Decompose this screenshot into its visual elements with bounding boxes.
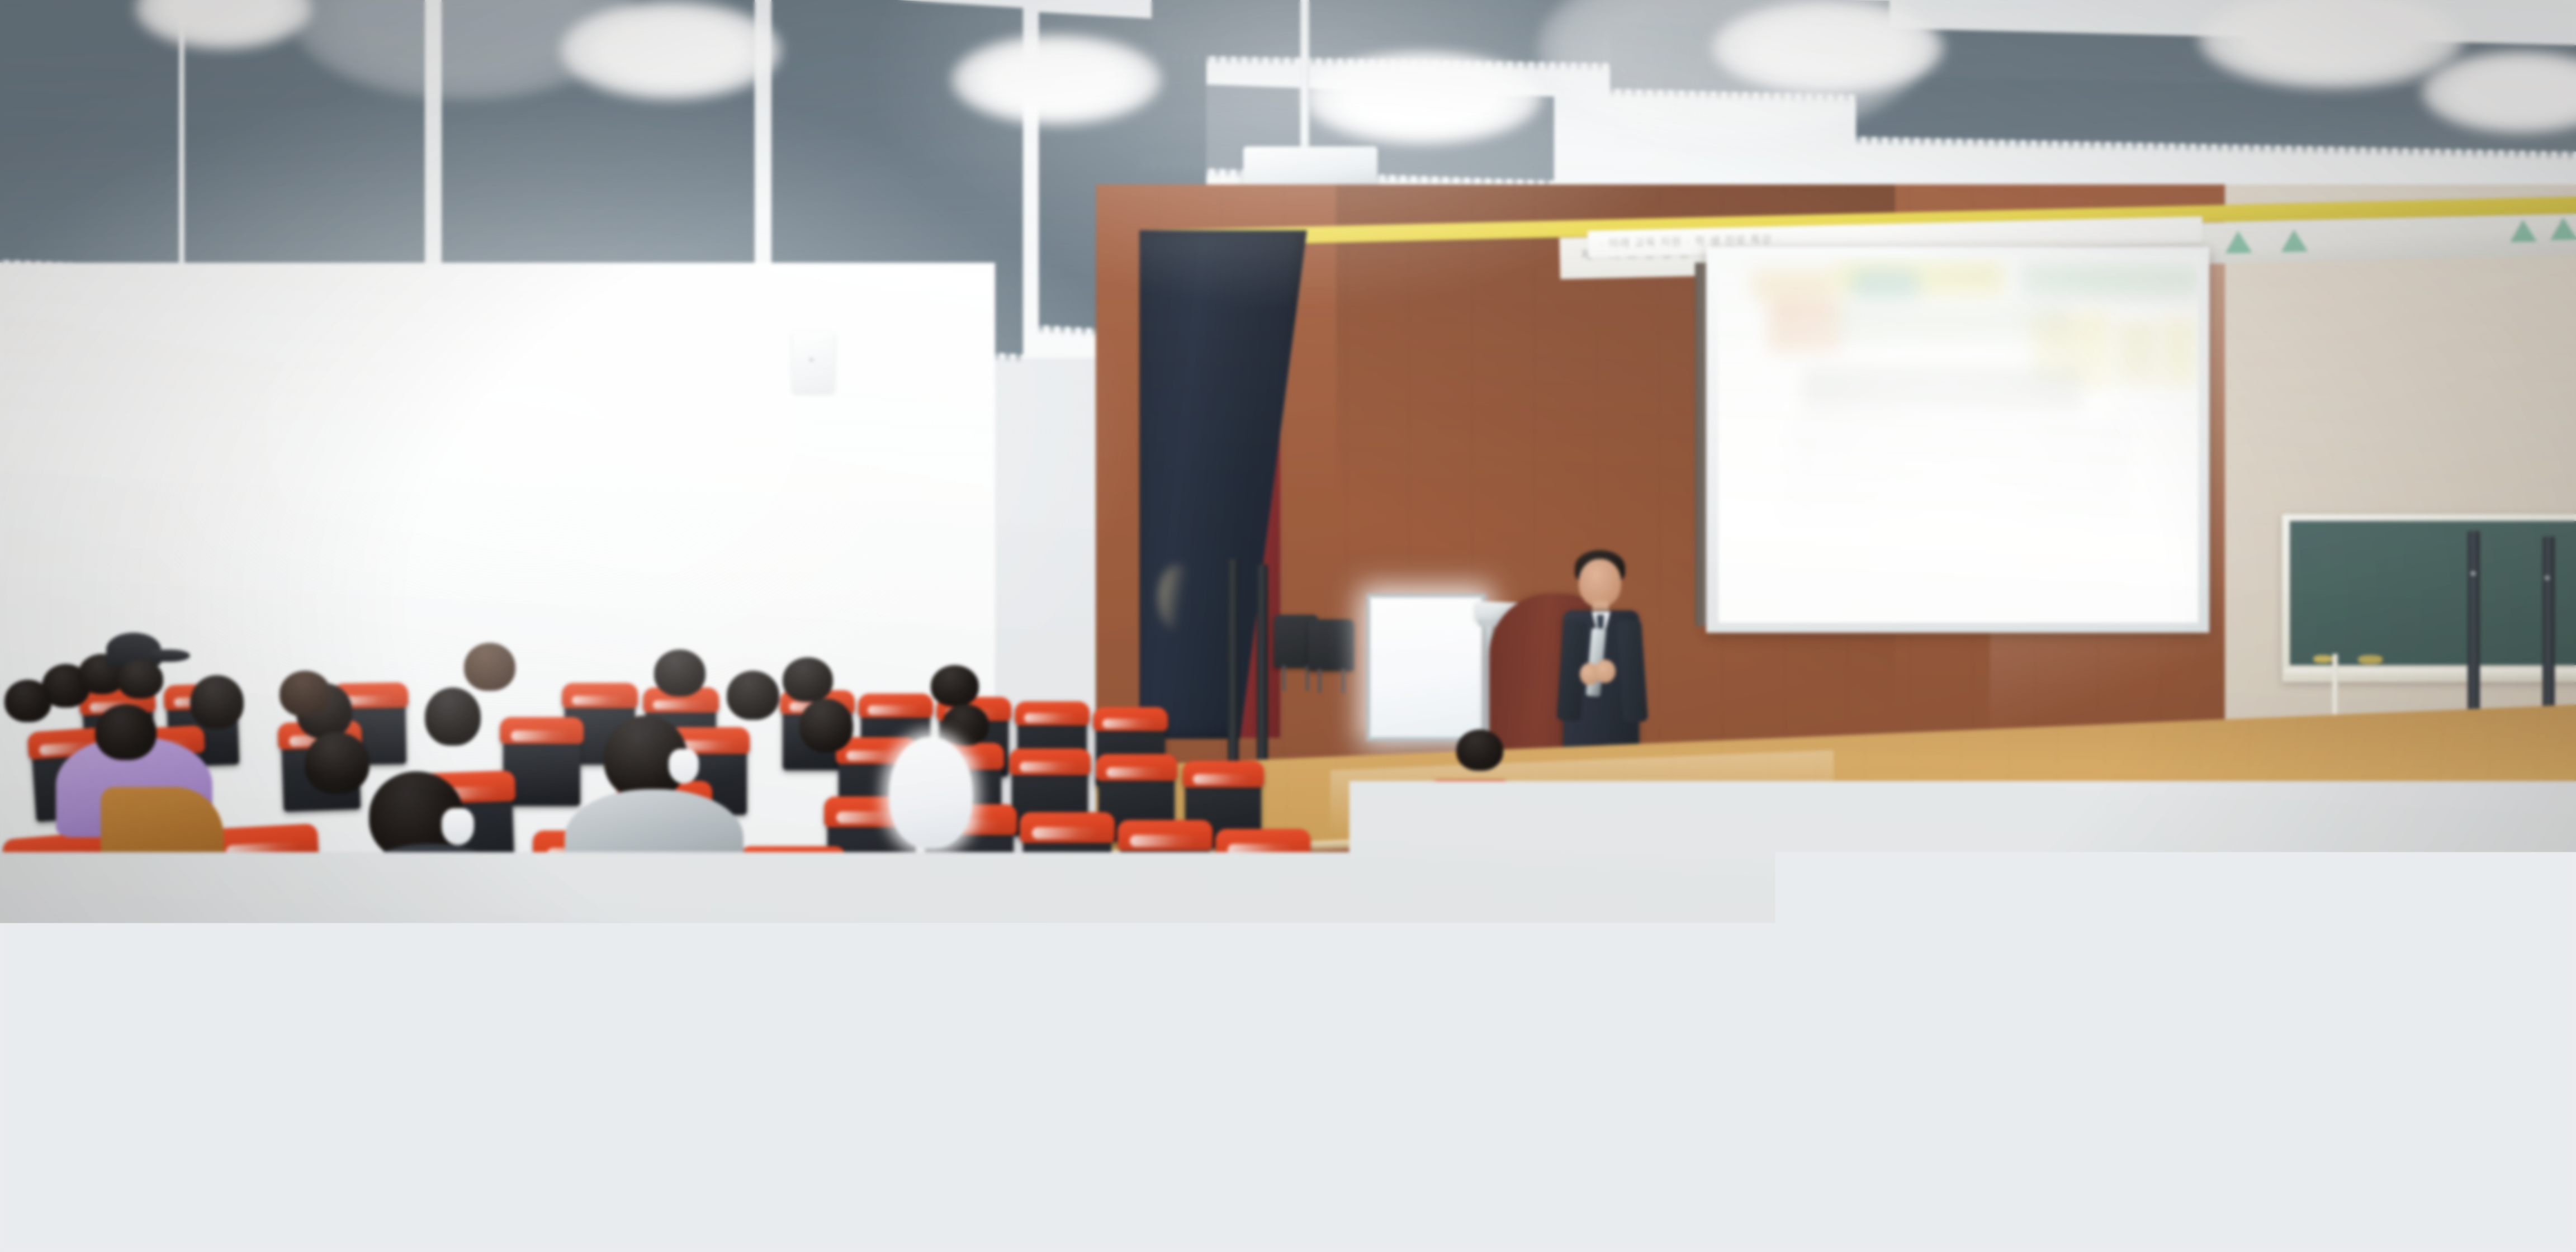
audience-head [654, 649, 705, 696]
audience-face [140, 1091, 212, 1158]
audience-shoulders [0, 959, 123, 1093]
speaker-indicator-icon [2470, 571, 2476, 576]
audience-head [1487, 833, 1549, 889]
presenter-hand-right [1594, 660, 1616, 683]
audience-head [95, 704, 157, 760]
audience-head [464, 643, 515, 691]
chalk-icon [2313, 655, 2332, 663]
auditorium-seat[interactable] [1973, 961, 2072, 1063]
audience-shoulders [347, 844, 514, 945]
banner-accent-triangle [2550, 217, 2576, 240]
audience-neck [252, 1112, 307, 1151]
audience-head [783, 657, 833, 702]
audience-head [117, 660, 163, 699]
audience-head [799, 699, 853, 752]
audience-head [425, 687, 481, 746]
audience-head [931, 665, 979, 706]
laptop-purple-screen[interactable] [555, 1069, 798, 1252]
auditorium-seat[interactable] [2085, 974, 2184, 1075]
audience-shoulders [2421, 911, 2576, 1034]
projection-screen-surface [1718, 256, 2198, 623]
orange-folder [2348, 997, 2437, 1047]
ceiling-light [950, 34, 1163, 126]
audience-head [2175, 950, 2242, 1011]
auditorium-seat[interactable] [1761, 1163, 1895, 1252]
audience-head [280, 671, 331, 717]
audience-head [2421, 1079, 2544, 1185]
eraser-icon [2358, 655, 2383, 664]
audience-head [727, 671, 779, 720]
laptop-white-screen[interactable] [1235, 1072, 1459, 1252]
speaker-indicator-icon [2545, 576, 2550, 580]
audience-head [2135, 883, 2196, 937]
chalk-tray [2284, 668, 2576, 677]
audience-head [2338, 920, 2399, 959]
audience-head [942, 704, 989, 746]
audience-head [4, 680, 51, 722]
banner-accent-triangle [2224, 230, 2252, 253]
chalkboard-surface [2290, 521, 2576, 665]
audience-cap-brim [152, 649, 190, 662]
auditorium-seat[interactable] [1778, 1045, 1890, 1160]
audience-head [2460, 860, 2538, 927]
auditorium-seat[interactable] [1934, 1179, 2068, 1252]
audience-head [1655, 838, 1727, 908]
presenter-head [1579, 559, 1621, 607]
stage-chair [1308, 619, 1354, 671]
face-mask [669, 749, 699, 784]
auditorium-seat[interactable] [1526, 917, 1625, 1018]
audience-neck [1644, 1168, 1716, 1218]
audience-shoulders [1694, 901, 1789, 985]
audience-head [788, 883, 917, 1051]
auditorium-photo: 제 · 회 초 청 강 연 · 진로 진학 설 명 회 · 미래 교육 지원 ·… [0, 0, 2576, 1252]
audience-shoulders [565, 789, 744, 890]
projector-mount-pole [1300, 0, 1309, 146]
wall-speaker-icon [793, 332, 834, 392]
banner-accent-triangle [2509, 219, 2537, 242]
curtain-highlight [1158, 565, 1197, 632]
ceiling-light [1303, 50, 1543, 145]
audience-head [305, 732, 370, 794]
auditorium-seat[interactable] [2197, 1091, 2309, 1206]
projection-screen [1706, 247, 2209, 633]
audience-head [1456, 729, 1503, 771]
water-bottle [2376, 1080, 2407, 1153]
audience-bag [101, 787, 224, 910]
face-mask [442, 808, 474, 845]
auditorium-seat[interactable] [7, 843, 113, 955]
chalkboard [2282, 514, 2576, 682]
audience-head-highlight [1207, 905, 1308, 1028]
audience-head-highlight [889, 737, 973, 848]
auditorium-seat[interactable] [2068, 1076, 2180, 1192]
audience-head [190, 675, 244, 729]
ceiling-acoustic-panel [0, 0, 179, 267]
banner-accent-triangle [2280, 229, 2308, 252]
lectern-frame [1366, 594, 1486, 741]
